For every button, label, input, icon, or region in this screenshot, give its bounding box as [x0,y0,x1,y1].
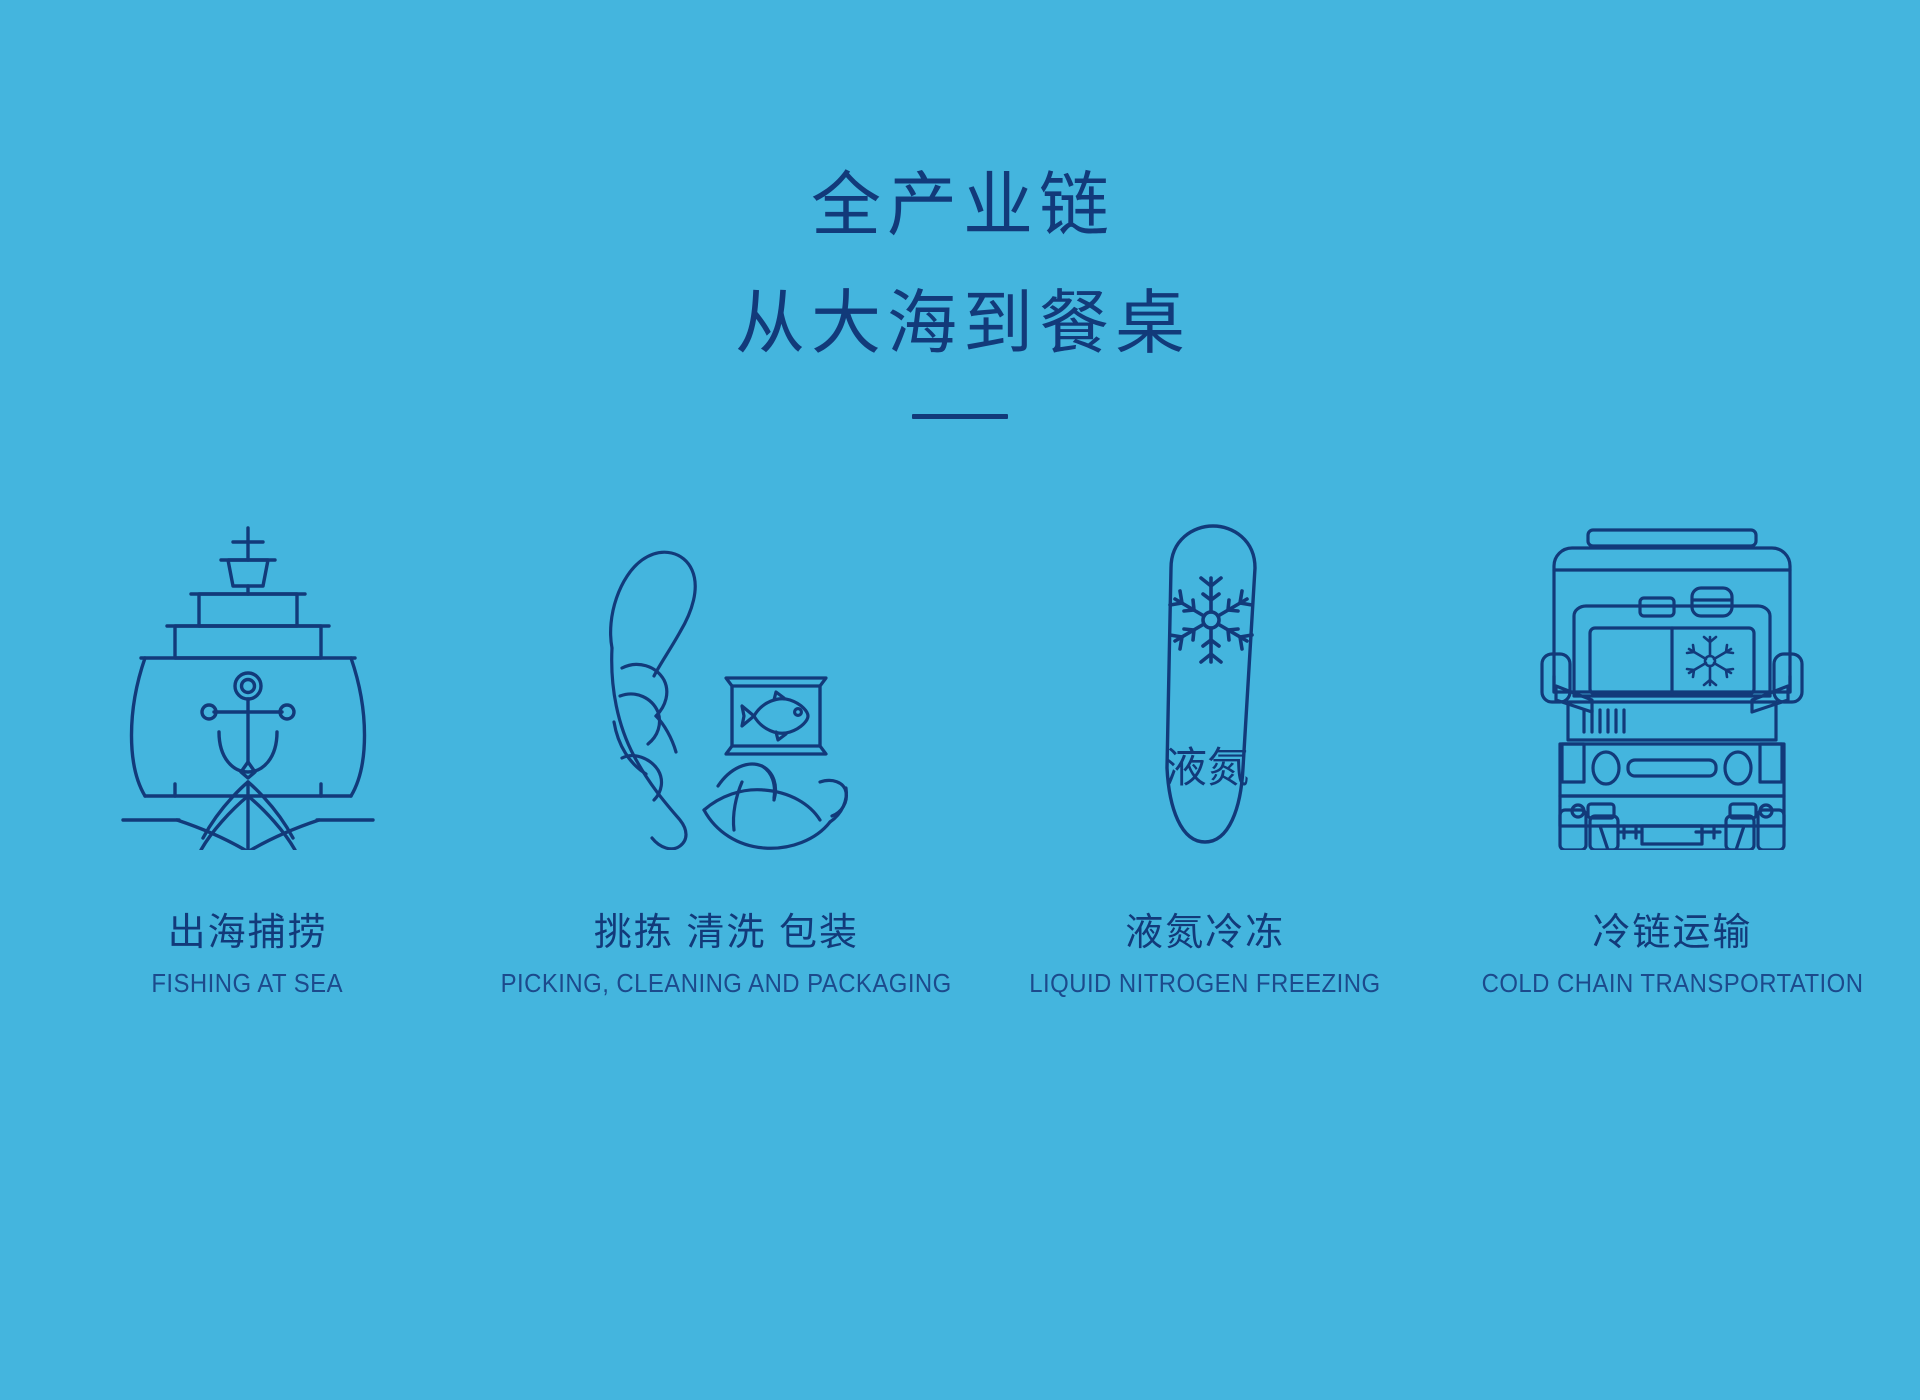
title-divider [912,414,1008,419]
refrigerated-truck-icon-box [1532,520,1812,850]
liquid-nitrogen-tank-icon-box: 液氮 [1115,520,1295,850]
step-picking-cleaning-packaging[interactable]: 挑拣 清洗 包装 PICKING, CLEANING AND PACKAGING [481,520,971,999]
process-steps-row: 出海捕捞 FISHING AT SEA [0,520,1920,999]
step-label-en: LIQUID NITROGEN FREEZING [1030,968,1381,999]
page-title-line-2: 从大海到餐桌 [0,290,1920,360]
page-title-line-1: 全产业链 [0,172,1920,242]
step-liquid-nitrogen-freezing[interactable]: 液氮 液氮冷冻 LIQUID NITROGEN FREEZING [972,520,1439,999]
fishing-boat-icon [113,520,383,850]
snowflake-icon [1170,578,1252,662]
step-label-en: FISHING AT SEA [152,968,344,999]
refrigerated-truck-icon [1532,520,1812,850]
fishing-boat-icon-box [113,520,383,850]
step-labels: 出海捕捞 FISHING AT SEA [143,912,351,999]
step-label-en: COLD CHAIN TRANSPORTATION [1481,968,1863,999]
tank-label-text: 液氮 [1165,744,1249,791]
hands-with-fish-package-icon [576,520,876,850]
step-cold-chain-transportation[interactable]: 冷链运输 COLD CHAIN TRANSPORTATION [1439,520,1906,999]
hands-with-fish-package-icon-box [576,520,876,850]
step-label-cn: 液氮冷冻 [1014,912,1396,956]
step-labels: 挑拣 清洗 包装 PICKING, CLEANING AND PACKAGING [481,912,971,999]
full-industry-chain-infographic: 全产业链 从大海到餐桌 [0,0,1920,1400]
step-label-en: PICKING, CLEANING AND PACKAGING [501,968,952,999]
step-label-cn: 冷链运输 [1465,912,1880,956]
liquid-nitrogen-tank-icon: 液氮 [1115,520,1295,850]
step-labels: 冷链运输 COLD CHAIN TRANSPORTATION [1465,912,1880,999]
step-label-cn: 出海捕捞 [143,912,351,956]
snowflake-icon [1687,637,1733,685]
step-labels: 液氮冷冻 LIQUID NITROGEN FREEZING [1014,912,1396,999]
step-label-cn: 挑拣 清洗 包装 [481,912,971,956]
page-header: 全产业链 从大海到餐桌 [0,172,1920,419]
step-fishing-at-sea[interactable]: 出海捕捞 FISHING AT SEA [14,520,481,999]
